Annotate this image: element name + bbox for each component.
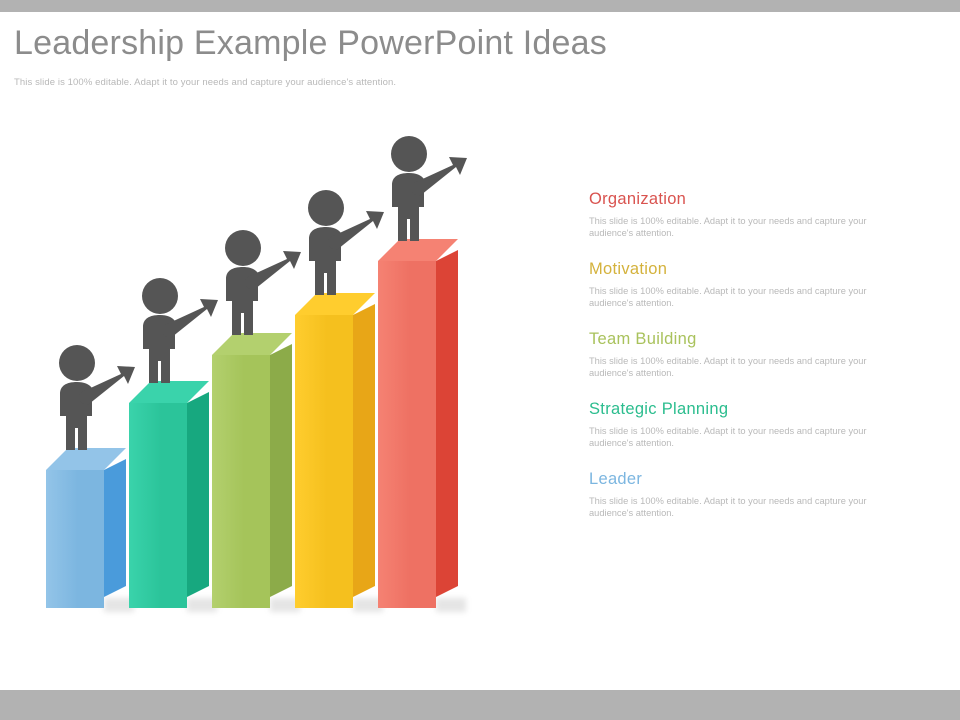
bar-side-face <box>187 392 209 597</box>
item-body-motivation: This slide is 100% editable. Adapt it to… <box>589 285 881 309</box>
item-heading-team-building: Team Building <box>589 330 899 349</box>
chart-bar <box>129 403 187 608</box>
person-pointing-icon <box>300 189 386 301</box>
list-item[interactable]: Team Building This slide is 100% editabl… <box>589 330 899 379</box>
bar-front-face <box>129 403 187 608</box>
list-item[interactable]: Motivation This slide is 100% editable. … <box>589 260 899 309</box>
chart-bar <box>46 470 104 608</box>
bar-side-face <box>436 250 458 597</box>
bar-front-face <box>212 355 270 608</box>
page-title: Leadership Example PowerPoint Ideas <box>14 24 607 63</box>
person-pointing-icon <box>51 344 137 456</box>
bar-front-face <box>46 470 104 608</box>
item-heading-leader: Leader <box>589 470 899 489</box>
bar-front-face <box>295 315 353 608</box>
bar-shadow <box>436 598 466 612</box>
item-heading-organization: Organization <box>589 190 899 209</box>
list-item[interactable]: Leader This slide is 100% editable. Adap… <box>589 470 899 519</box>
bar-side-face <box>353 304 375 597</box>
content-list: Organization This slide is 100% editable… <box>589 190 899 540</box>
item-body-organization: This slide is 100% editable. Adapt it to… <box>589 215 881 239</box>
person-pointing-icon <box>217 229 303 341</box>
person-pointing-icon <box>134 277 220 389</box>
chart-bar <box>378 261 436 608</box>
person-pointing-icon <box>383 135 469 247</box>
chart-bar <box>295 315 353 608</box>
bottom-band <box>0 690 960 720</box>
bar-front-face <box>378 261 436 608</box>
bar-side-face <box>104 459 126 597</box>
bar-side-face <box>270 344 292 597</box>
item-body-team-building: This slide is 100% editable. Adapt it to… <box>589 355 881 379</box>
item-body-strategic-planning: This slide is 100% editable. Adapt it to… <box>589 425 881 449</box>
chart-bar <box>212 355 270 608</box>
list-item[interactable]: Organization This slide is 100% editable… <box>589 190 899 239</box>
slide-canvas: Leadership Example PowerPoint Ideas This… <box>0 0 960 720</box>
top-band <box>0 0 960 12</box>
list-item[interactable]: Strategic Planning This slide is 100% ed… <box>589 400 899 449</box>
item-heading-motivation: Motivation <box>589 260 899 279</box>
bar-chart-graphic <box>0 130 540 640</box>
item-heading-strategic-planning: Strategic Planning <box>589 400 899 419</box>
item-body-leader: This slide is 100% editable. Adapt it to… <box>589 495 881 519</box>
page-subtitle: This slide is 100% editable. Adapt it to… <box>14 77 396 88</box>
